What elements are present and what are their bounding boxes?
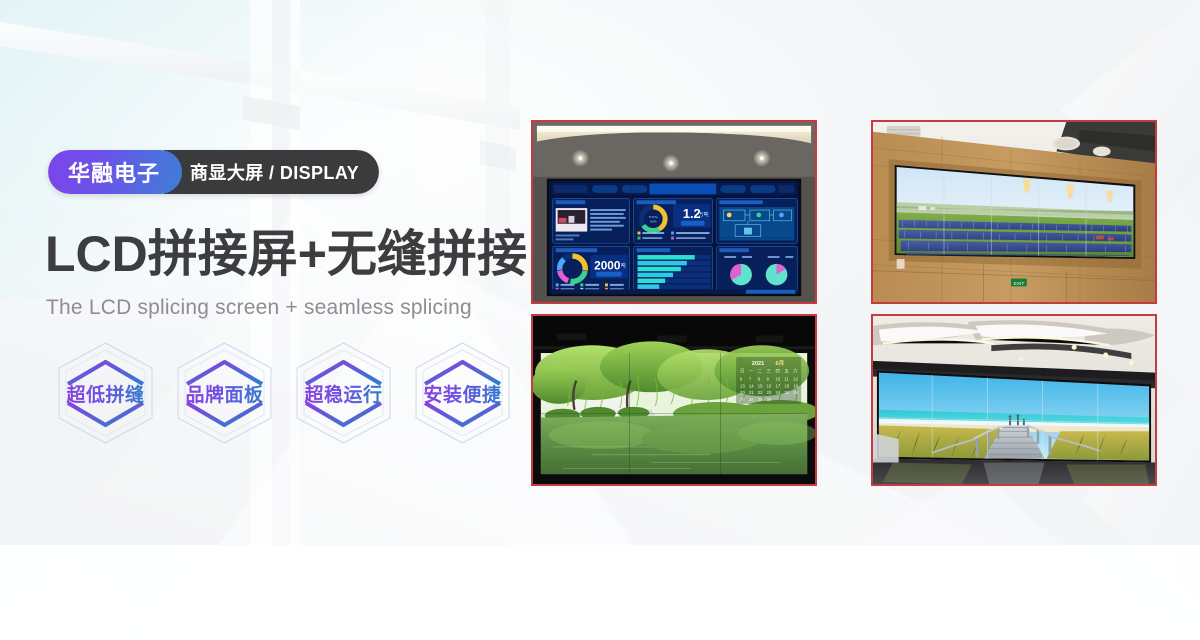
photo-control-room-dashboard: TOTAL KWh 1.2 万吨 (531, 120, 817, 304)
svg-text:25: 25 (784, 390, 789, 395)
svg-text:六: 六 (793, 368, 798, 375)
svg-text:18: 18 (784, 383, 789, 388)
page-title: LCD拼接屏+无缝拼接 (45, 228, 527, 281)
svg-text:三: 三 (767, 369, 772, 374)
brand-pill: 华融电子 商显大屏 / DISPLAY (48, 150, 379, 194)
svg-text:二: 二 (758, 369, 763, 374)
svg-text:EXIT: EXIT (1013, 281, 1024, 287)
feature-badge-label: 安装便捷 (423, 380, 501, 407)
svg-text:2021: 2021 (752, 361, 764, 367)
svg-text:吨: 吨 (621, 262, 626, 269)
feature-badge-4: 安装便捷 (405, 337, 520, 449)
feature-badge-1: 超低拼缝 (48, 337, 163, 449)
svg-text:6月: 6月 (776, 359, 785, 367)
brand-category: 商显大屏 / DISPLAY (164, 150, 379, 194)
svg-text:28: 28 (749, 397, 754, 402)
svg-text:17: 17 (776, 383, 781, 388)
svg-text:21: 21 (749, 390, 754, 395)
feature-badge-2: 品牌面板 (167, 337, 282, 449)
svg-text:22: 22 (758, 390, 763, 395)
feature-badge-3: 超稳运行 (286, 337, 401, 449)
svg-text:15: 15 (758, 383, 763, 388)
svg-text:20: 20 (740, 390, 745, 395)
brand-name: 华融电子 (48, 150, 182, 194)
svg-text:13: 13 (740, 383, 745, 388)
svg-text:30: 30 (767, 397, 772, 402)
photo-lakeside-willow-wall: 2021 6月 日一二 三四五 六 678 91011 12 131415 16… (531, 314, 817, 486)
svg-text:KWh: KWh (650, 219, 657, 223)
photo-beach-boardwalk-wall (871, 314, 1157, 486)
promo-banner: 华融电子 商显大屏 / DISPLAY LCD拼接屏+无缝拼接 The LCD … (0, 0, 1200, 640)
svg-text:14: 14 (749, 383, 754, 388)
svg-text:26: 26 (793, 390, 798, 395)
svg-text:TOTAL: TOTAL (648, 215, 658, 219)
svg-text:19: 19 (793, 383, 798, 388)
feature-badge-label: 品牌面板 (185, 380, 263, 407)
svg-text:24: 24 (776, 390, 781, 395)
svg-text:12: 12 (793, 376, 798, 381)
feature-badge-label: 超稳运行 (304, 380, 382, 407)
svg-text:四: 四 (776, 369, 780, 374)
feature-badge-list: 超低拼缝 品牌面板 (48, 337, 520, 449)
svg-text:27: 27 (740, 397, 745, 402)
feature-badge-label: 超低拼缝 (66, 380, 144, 407)
svg-text:五: 五 (784, 369, 789, 374)
svg-text:29: 29 (758, 397, 763, 402)
svg-text:2000: 2000 (594, 260, 621, 273)
svg-text:16: 16 (767, 383, 772, 388)
svg-text:一: 一 (749, 369, 754, 374)
page-subtitle: The LCD splicing screen + seamless splic… (46, 296, 472, 320)
svg-text:万吨: 万吨 (699, 211, 709, 218)
svg-text:23: 23 (767, 390, 772, 395)
photo-solar-farm-video-wall: EXIT (871, 120, 1157, 304)
svg-text:11: 11 (784, 376, 789, 381)
svg-text:10: 10 (776, 376, 781, 381)
